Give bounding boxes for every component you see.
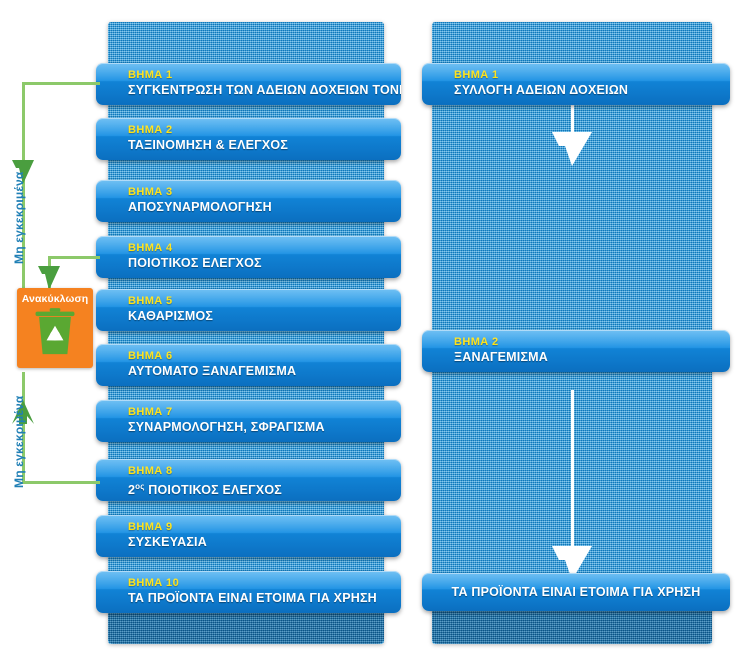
left-step-7-number: ΒΗΜΑ 7	[128, 406, 401, 418]
left-step-9[interactable]: ΒΗΜΑ 9 ΣΥΣΚΕΥΑΣΙΑ	[96, 515, 401, 557]
reject-path-upper-horizontal	[22, 82, 100, 85]
left-step-2-number: ΒΗΜΑ 2	[128, 124, 401, 136]
reject-arrow-step4-icon	[38, 266, 60, 290]
left-step-8-rest: ΠΟΙΟΤΙΚΟΣ ΕΛΕΓΧΟΣ	[145, 483, 282, 497]
diagram-canvas: ΒΗΜΑ 1 ΣΥΓΚΕΝΤΡΩΣΗ ΤΩΝ ΑΔΕΙΩΝ ΔΟΧΕΙΩΝ TO…	[0, 0, 740, 670]
left-step-8-number: ΒΗΜΑ 8	[128, 465, 401, 477]
left-step-2[interactable]: ΒΗΜΑ 2 ΤΑΞΙΝΟΜΗΣΗ & ΕΛΕΓΧΟΣ	[96, 118, 401, 160]
right-final-step-label: ΤΑ ΠΡΟΪΟΝΤΑ ΕΙΝΑΙ ΕΤΟΙΜΑ ΓΙΑ ΧΡΗΣΗ	[452, 585, 701, 600]
reject-label-upper: Μη εγκεκριμένα	[12, 172, 26, 264]
left-step-4-label: ΠΟΙΟΤΙΚΟΣ ΕΛΕΓΧΟΣ	[128, 256, 401, 271]
left-step-6-number: ΒΗΜΑ 6	[128, 350, 401, 362]
left-step-3-label: ΑΠΟΣΥΝΑΡΜΟΛΟΓΗΣΗ	[128, 200, 401, 215]
reject-path-step4-horizontal	[48, 256, 100, 259]
right-step-2-number: ΒΗΜΑ 2	[454, 336, 730, 348]
left-step-8-superscript: ος	[135, 482, 144, 491]
left-step-10-label: ΤΑ ΠΡΟΪΟΝΤΑ ΕΙΝΑΙ ΕΤΟΙΜΑ ΓΙΑ ΧΡΗΣΗ	[128, 591, 401, 606]
left-step-8[interactable]: ΒΗΜΑ 8 2ος ΠΟΙΟΤΙΚΟΣ ΕΛΕΓΧΟΣ	[96, 459, 401, 501]
right-step-2[interactable]: ΒΗΜΑ 2 ΞΑΝΑΓΕΜΙΣΜΑ	[422, 330, 730, 372]
left-step-4[interactable]: ΒΗΜΑ 4 ΠΟΙΟΤΙΚΟΣ ΕΛΕΓΧΟΣ	[96, 236, 401, 278]
right-final-step[interactable]: ΤΑ ΠΡΟΪΟΝΤΑ ΕΙΝΑΙ ΕΤΟΙΜΑ ΓΙΑ ΧΡΗΣΗ	[422, 573, 730, 611]
reject-path-lower-horizontal	[22, 481, 100, 484]
left-step-2-label: ΤΑΞΙΝΟΜΗΣΗ & ΕΛΕΓΧΟΣ	[128, 138, 401, 153]
right-step-1-label: ΣΥΛΛΟΓΗ ΑΔΕΙΩΝ ΔΟΧΕΙΩΝ	[454, 83, 730, 98]
left-step-4-number: ΒΗΜΑ 4	[128, 242, 401, 254]
left-step-6[interactable]: ΒΗΜΑ 6 ΑΥΤΟΜΑΤΟ ΞΑΝΑΓΕΜΙΣΜΑ	[96, 344, 401, 386]
left-step-7[interactable]: ΒΗΜΑ 7 ΣΥΝΑΡΜΟΛΟΓΗΣΗ, ΣΦΡΑΓΙΣΜΑ	[96, 400, 401, 442]
right-flow-arrow-1	[552, 104, 592, 166]
left-step-3-number: ΒΗΜΑ 3	[128, 186, 401, 198]
right-step-2-label: ΞΑΝΑΓΕΜΙΣΜΑ	[454, 350, 730, 365]
left-step-1-label: ΣΥΓΚΕΝΤΡΩΣΗ ΤΩΝ ΑΔΕΙΩΝ ΔΟΧΕΙΩΝ TONER	[128, 83, 401, 98]
left-step-10[interactable]: ΒΗΜΑ 10 ΤΑ ΠΡΟΪΟΝΤΑ ΕΙΝΑΙ ΕΤΟΙΜΑ ΓΙΑ ΧΡΗ…	[96, 571, 401, 613]
left-step-10-number: ΒΗΜΑ 10	[128, 577, 401, 589]
recycling-box[interactable]: Ανακύκλωση	[17, 288, 93, 368]
left-step-3[interactable]: ΒΗΜΑ 3 ΑΠΟΣΥΝΑΡΜΟΛΟΓΗΣΗ	[96, 180, 401, 222]
left-step-5-number: ΒΗΜΑ 5	[128, 295, 401, 307]
right-step-1-number: ΒΗΜΑ 1	[454, 69, 730, 81]
left-step-8-label: 2ος ΠΟΙΟΤΙΚΟΣ ΕΛΕΓΧΟΣ	[128, 479, 401, 498]
reject-label-lower: Μη εγκεκριμένα	[12, 396, 26, 488]
arrowhead-down-icon	[552, 132, 592, 166]
right-flow-arrow-2	[552, 390, 592, 580]
recycling-box-label: Ανακύκλωση	[22, 293, 89, 305]
left-step-1[interactable]: ΒΗΜΑ 1 ΣΥΓΚΕΝΤΡΩΣΗ ΤΩΝ ΑΔΕΙΩΝ ΔΟΧΕΙΩΝ TO…	[96, 63, 401, 105]
left-step-5-label: ΚΑΘΑΡΙΣΜΟΣ	[128, 309, 401, 324]
left-step-9-label: ΣΥΣΚΕΥΑΣΙΑ	[128, 535, 401, 550]
right-step-1[interactable]: ΒΗΜΑ 1 ΣΥΛΛΟΓΗ ΑΔΕΙΩΝ ΔΟΧΕΙΩΝ	[422, 63, 730, 105]
left-step-5[interactable]: ΒΗΜΑ 5 ΚΑΘΑΡΙΣΜΟΣ	[96, 289, 401, 331]
left-step-9-number: ΒΗΜΑ 9	[128, 521, 401, 533]
left-step-7-label: ΣΥΝΑΡΜΟΛΟΓΗΣΗ, ΣΦΡΑΓΙΣΜΑ	[128, 420, 401, 435]
recycle-bin-icon	[32, 307, 78, 362]
left-step-6-label: ΑΥΤΟΜΑΤΟ ΞΑΝΑΓΕΜΙΣΜΑ	[128, 364, 401, 379]
left-step-1-number: ΒΗΜΑ 1	[128, 69, 401, 81]
